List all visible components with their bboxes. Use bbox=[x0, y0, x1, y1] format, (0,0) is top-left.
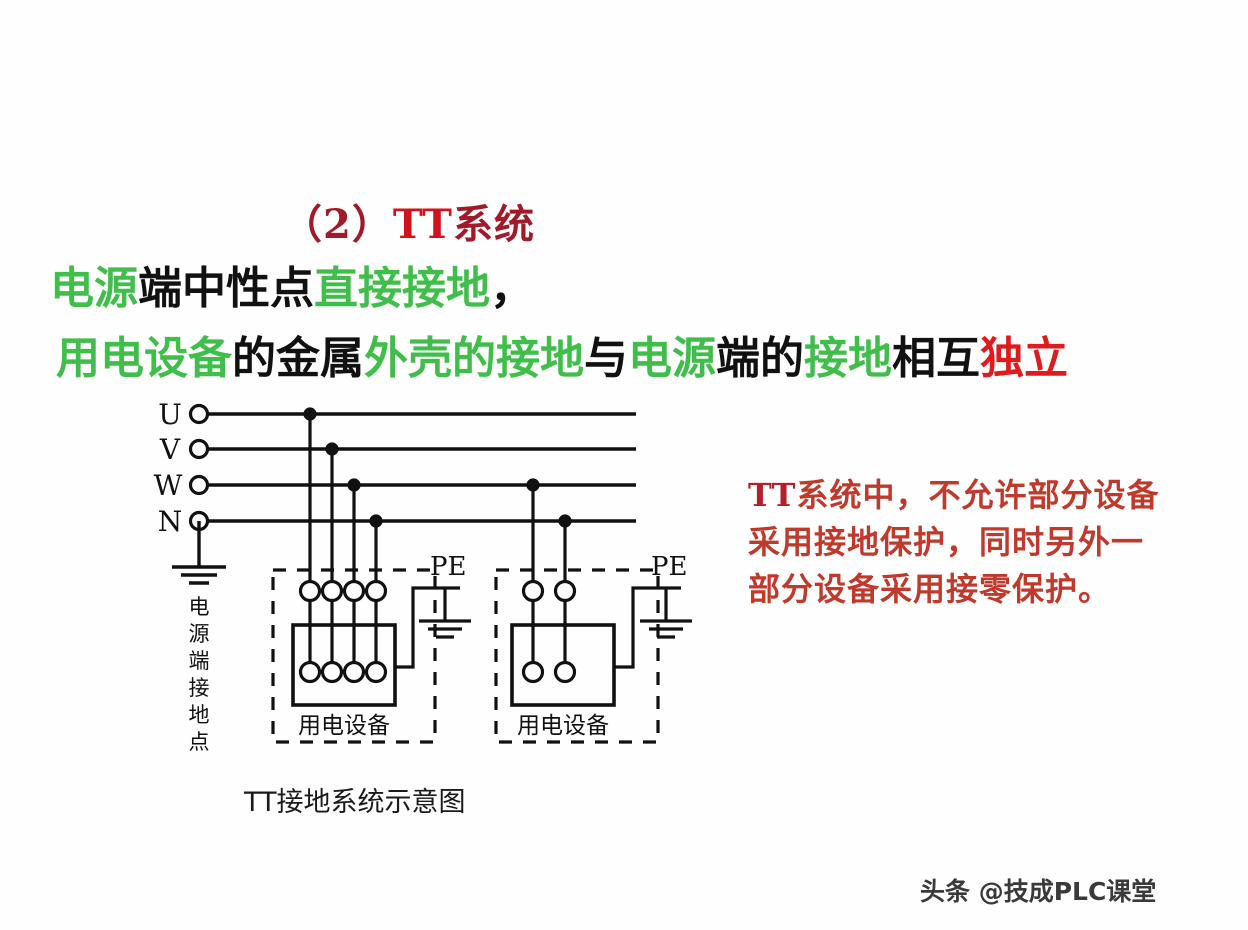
pe-label-1: PE bbox=[430, 552, 466, 582]
source-ground-label: 电 源 端 接 地 点 bbox=[189, 595, 210, 754]
svg-text:电: 电 bbox=[189, 595, 210, 619]
load1-inner-terminal-v bbox=[323, 663, 342, 682]
terminal-u bbox=[191, 406, 208, 423]
terminal-w bbox=[191, 477, 208, 494]
load1-top-terminal-n bbox=[367, 582, 386, 601]
bus-label-w: W bbox=[154, 469, 183, 502]
load1-inner-terminal-n bbox=[367, 663, 386, 682]
slide-canvas: （2）TT系统 电源端中性点直接接地， 用电设备的金属外壳的接地与电源端的接地相… bbox=[0, 0, 1248, 930]
terminal-v bbox=[191, 441, 208, 458]
tt-system-wiring-diagram: U V W N 电 源 端 接 地 点 bbox=[0, 0, 1248, 930]
bus-label-v: V bbox=[159, 433, 181, 466]
svg-text:端: 端 bbox=[189, 649, 210, 673]
svg-text:点: 点 bbox=[189, 730, 210, 754]
load2-top-terminal-w bbox=[524, 582, 543, 601]
svg-text:源: 源 bbox=[189, 622, 210, 646]
load1-inner-terminal-w bbox=[345, 663, 364, 682]
svg-text:接: 接 bbox=[189, 676, 210, 700]
load2-inner-terminal-w bbox=[524, 663, 543, 682]
figure-caption: TT接地系统示意图 bbox=[244, 780, 466, 819]
watermark: 头条 @技成PLC课堂 bbox=[920, 872, 1156, 908]
svg-text:地: 地 bbox=[189, 703, 210, 727]
load1-top-terminal-u bbox=[301, 582, 320, 601]
load1-top-terminal-v bbox=[323, 582, 342, 601]
pe-label-2: PE bbox=[651, 552, 687, 582]
load2-top-terminal-n bbox=[556, 582, 575, 601]
load-label-1: 用电设备 bbox=[298, 713, 390, 739]
bus-label-u: U bbox=[158, 398, 182, 431]
load1-inner-terminal-u bbox=[301, 663, 320, 682]
load2-inner-terminal-n bbox=[556, 663, 575, 682]
load1-top-terminal-w bbox=[345, 582, 364, 601]
load-label-2: 用电设备 bbox=[517, 713, 609, 739]
bus-label-n: N bbox=[158, 505, 183, 538]
